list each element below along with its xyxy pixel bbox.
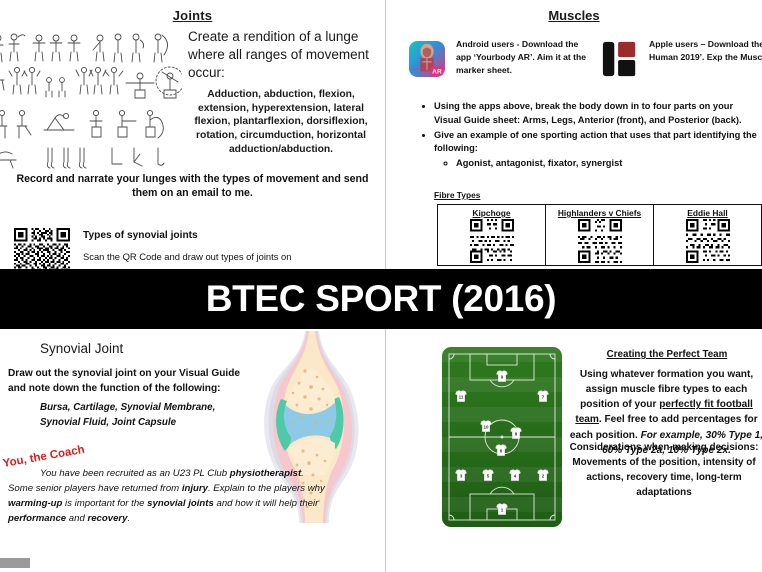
fibre-col-header: Highlanders v Chiefs bbox=[546, 208, 653, 218]
app-download-row: AR Android users - Download the app ‘You… bbox=[386, 38, 762, 90]
muscles-bullet-2-text: Give an example of one sporting action t… bbox=[434, 130, 757, 154]
pitch-player-shirt: 1 bbox=[495, 502, 510, 517]
apple-app-text: Apple users – Download the ‘BioDigital H… bbox=[649, 38, 762, 64]
perfect-team-paragraph-2: Considerations when making decisions: Mo… bbox=[564, 441, 762, 500]
banner-title: BTEC SPORT (2016) bbox=[0, 269, 762, 329]
pitch-player-shirt: 10 bbox=[479, 419, 494, 434]
joints-movement-terms: Adduction, abduction, flexion, extension… bbox=[186, 88, 376, 156]
fibre-types-table: Kipchoge Highlanders v bbox=[437, 204, 762, 266]
synovial-types-heading: Types of synovial joints bbox=[83, 230, 363, 241]
scrollbar-thumb[interactable] bbox=[0, 558, 30, 568]
title-banner: BTEC SPORT (2016) bbox=[0, 269, 762, 329]
svg-text:AR: AR bbox=[432, 68, 442, 75]
football-pitch-formation: 1354261081179 bbox=[442, 347, 562, 527]
range-of-movement-figures-image bbox=[0, 28, 182, 173]
pitch-player-shirt: 8 bbox=[509, 426, 524, 441]
fibre-cell-kipchoge: Kipchoge bbox=[438, 205, 546, 265]
biodigital-human-app-icon[interactable] bbox=[601, 40, 639, 78]
pitch-player-shirt: 2 bbox=[535, 467, 550, 482]
joints-record-instruction: Record and narrate your lunges with the … bbox=[8, 172, 377, 201]
pitch-player-shirt: 11 bbox=[454, 388, 469, 403]
pitch-player-shirt: 7 bbox=[535, 388, 550, 403]
perfect-team-heading: Creating the Perfect Team bbox=[572, 349, 762, 360]
fibre-cell-highlanders-chiefs: Highlanders v Chiefs bbox=[546, 205, 654, 265]
pitch-player-shirt: 3 bbox=[454, 467, 469, 482]
qr-code-icon[interactable] bbox=[470, 219, 514, 263]
synovial-joint-heading: Synovial Joint bbox=[40, 341, 123, 356]
synovial-types-text: Scan the QR Code and draw out types of j… bbox=[83, 250, 368, 264]
coach-task-text: You have been recruited as an U23 PL Clu… bbox=[8, 467, 328, 526]
pitch-player-shirt: 5 bbox=[480, 467, 495, 482]
muscles-bullet-2: Give an example of one sporting action t… bbox=[434, 129, 762, 171]
yourbody-ar-app-icon[interactable]: AR bbox=[408, 40, 446, 78]
document-page: Joints bbox=[0, 0, 762, 572]
muscles-task-list: Using the apps above, break the body dow… bbox=[420, 100, 762, 172]
joints-panel: Joints bbox=[0, 0, 385, 265]
perfect-team-panel: 1354261081179 Creating the Perfect Team … bbox=[386, 329, 762, 572]
fibre-cell-eddie-hall: Eddie Hall bbox=[654, 205, 762, 265]
joints-heading: Joints bbox=[0, 8, 385, 23]
android-app-text: Android users - Download the app ‘Yourbo… bbox=[456, 38, 588, 77]
muscles-bullet-1: Using the apps above, break the body dow… bbox=[434, 100, 762, 128]
qr-code-icon[interactable] bbox=[686, 219, 730, 263]
synovial-joint-instruction: Draw out the synovial joint on your Visu… bbox=[8, 366, 243, 396]
svg-text:10: 10 bbox=[484, 424, 490, 429]
qr-code-icon[interactable] bbox=[578, 219, 622, 263]
fibre-col-header: Eddie Hall bbox=[654, 208, 761, 218]
fibre-types-heading: Fibre Types bbox=[434, 190, 480, 200]
joints-lead-text: Create a rendition of a lunge where all … bbox=[188, 28, 373, 81]
synovial-joint-terms: Bursa, Cartilage, Synovial Membrane, Syn… bbox=[40, 401, 255, 431]
pitch-player-shirt: 6 bbox=[493, 442, 508, 457]
pitch-player-shirt: 9 bbox=[495, 368, 510, 383]
muscles-heading: Muscles bbox=[386, 8, 762, 23]
synovial-joint-panel: Synovial Joint Draw out the synovial joi… bbox=[0, 329, 385, 572]
svg-text:11: 11 bbox=[459, 394, 464, 399]
muscles-sub-bullet: Agonist, antagonist, fixator, synergist bbox=[456, 157, 762, 171]
pitch-player-shirt: 4 bbox=[508, 467, 523, 482]
fibre-col-header: Kipchoge bbox=[438, 208, 545, 218]
